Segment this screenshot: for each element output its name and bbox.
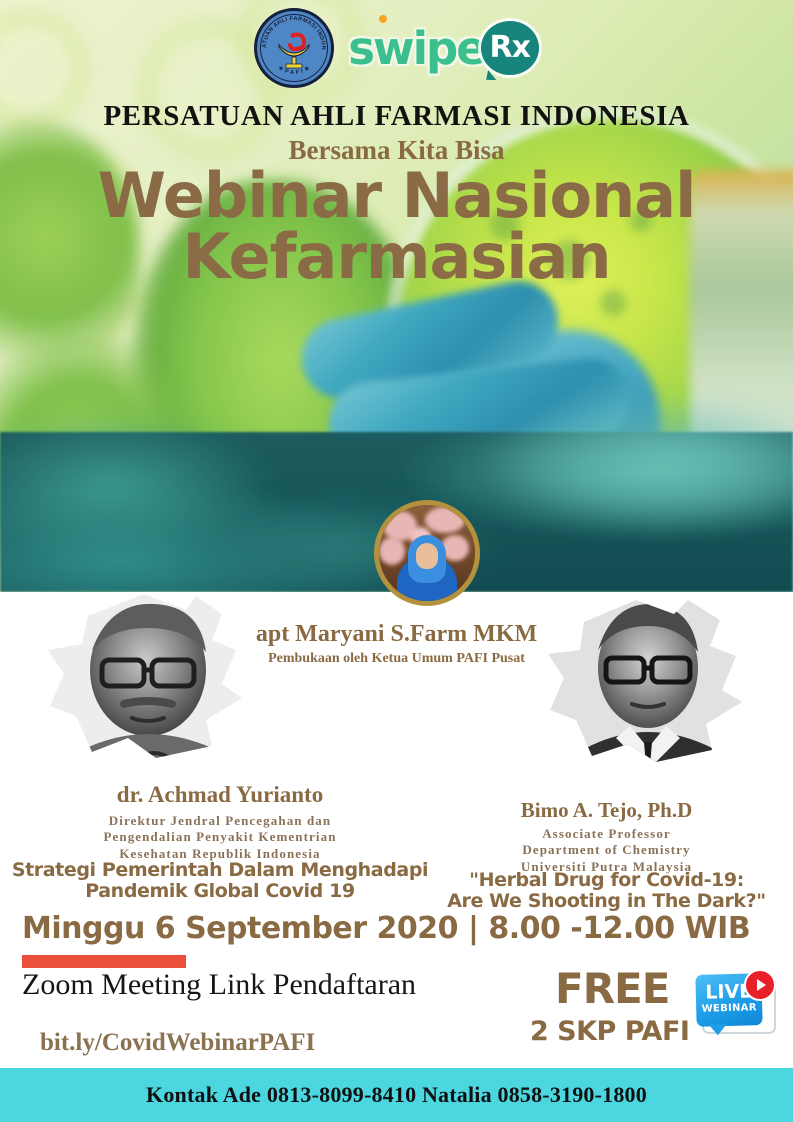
rx-label: Rx — [490, 33, 530, 63]
left-speaker-affiliation: Direktur Jendral Pencegahan dan Pengenda… — [0, 813, 440, 862]
webinar-poster: PERSATUAN AHLI FARMASI INDONESIA ★ P A F… — [0, 0, 793, 1122]
play-button-icon — [744, 969, 776, 1001]
swiperx-wordmark: swipe — [348, 26, 485, 71]
avatar-center-speaker — [374, 500, 480, 606]
credits-badge: 2 SKP PAFI — [530, 1018, 689, 1045]
page-title: Webinar Nasional Kefarmasian — [0, 166, 793, 288]
swiperx-dot-icon — [379, 15, 387, 23]
price-badge: FREE — [555, 968, 669, 1010]
photo-right-speaker — [540, 598, 758, 770]
contact-footer-bar: Kontak Ade 0813-8099-8410 Natalia 0858-3… — [0, 1068, 793, 1122]
left-speaker-name: dr. Achmad Yurianto — [0, 783, 440, 806]
bowl-of-hygieia-icon — [273, 31, 315, 71]
contact-text: Kontak Ade 0813-8099-8410 Natalia 0858-3… — [146, 1084, 647, 1106]
swiperx-logo: swipe Rx — [348, 17, 539, 79]
right-speaker-affiliation: Associate Professor Department of Chemis… — [420, 826, 793, 875]
right-speaker-topic: "Herbal Drug for Covid-19: Are We Shooti… — [420, 870, 793, 911]
badge-webinar-label: WEBINAR — [696, 1003, 762, 1015]
live-webinar-badge: LIVE WEBINAR — [694, 972, 776, 1038]
accent-underline-bar — [22, 955, 186, 968]
right-speaker-name: Bimo A. Tejo, Ph.D — [420, 800, 793, 821]
photo-left-speaker — [36, 588, 266, 768]
pafi-logo: PERSATUAN AHLI FARMASI INDONESIA ★ P A F… — [254, 8, 334, 88]
title-line-2: Kefarmasian — [0, 227, 793, 288]
registration-link[interactable]: bit.ly/CovidWebinarPAFI — [40, 1030, 315, 1055]
rx-speech-bubble-icon: Rx — [481, 21, 539, 75]
logo-row: PERSATUAN AHLI FARMASI INDONESIA ★ P A F… — [0, 6, 793, 90]
event-date-time: Minggu 6 September 2020 | 8.00 -12.00 WI… — [22, 914, 750, 944]
platform-label: Zoom Meeting Link Pendaftaran — [22, 968, 416, 1001]
left-speaker-topic: Strategi Pemerintah Dalam Menghadapi Pan… — [0, 860, 440, 901]
organization-name: PERSATUAN AHLI FARMASI INDONESIA — [0, 102, 793, 131]
